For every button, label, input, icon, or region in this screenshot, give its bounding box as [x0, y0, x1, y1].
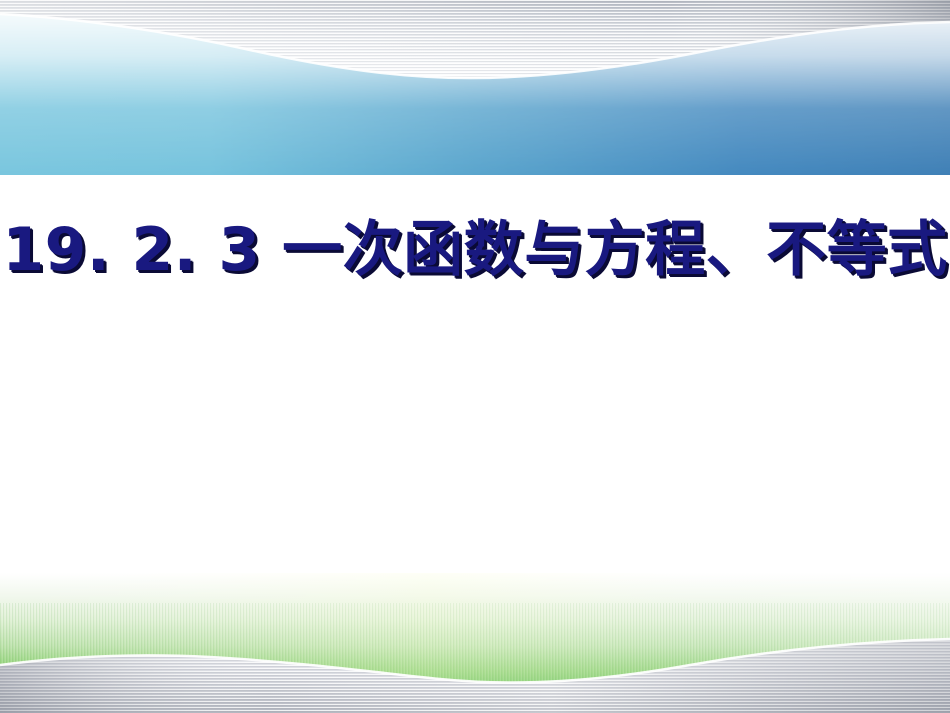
- top-wave-highlight-edge: [0, 14, 950, 78]
- top-silver-wave: [0, 0, 950, 90]
- slide-title: 19. 2. 3 一次函数与方程、不等式: [2, 218, 947, 283]
- bottom-silver-wave: [0, 623, 950, 713]
- bottom-wave-highlight-edge: [0, 639, 950, 683]
- title-placeholder: 19. 2. 3 一次函数与方程、不等式: [0, 218, 950, 283]
- blue-sky-shape: [0, 14, 950, 175]
- presentation-slide: 19. 2. 3 一次函数与方程、不等式: [0, 0, 950, 713]
- top-wave-decoration: [0, 0, 950, 200]
- bottom-wave-decoration: [0, 513, 950, 713]
- top-blue-gradient: [0, 0, 950, 175]
- grass-gradient: [0, 573, 950, 713]
